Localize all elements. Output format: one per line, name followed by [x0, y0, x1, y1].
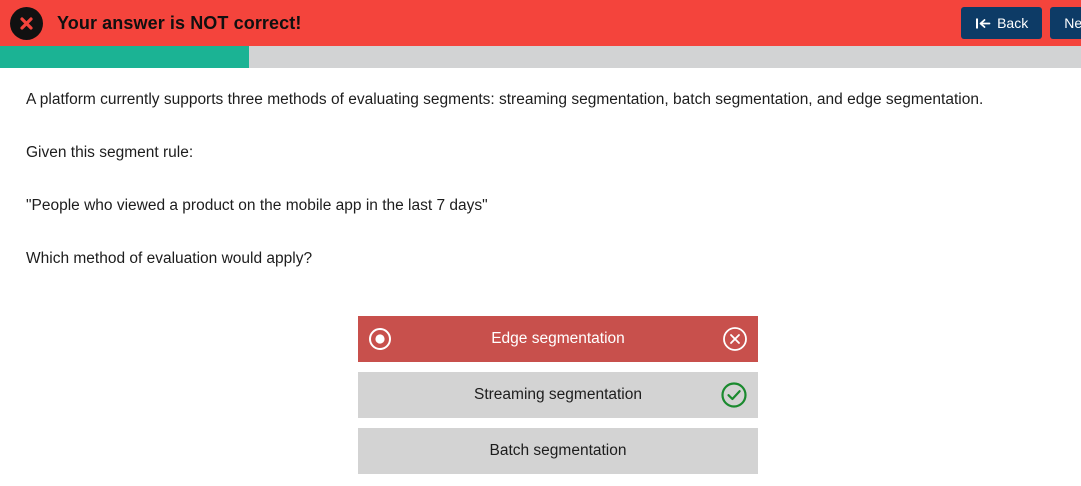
back-button[interactable]: Back [961, 7, 1042, 39]
feedback-banner: Your answer is NOT correct! Back Next [0, 0, 1081, 46]
option-edge-segmentation[interactable]: Edge segmentation [358, 316, 758, 362]
radio-selected-icon[interactable] [368, 327, 392, 351]
answer-options: Edge segmentation Streaming segmentation… [358, 316, 758, 484]
option-label: Streaming segmentation [474, 386, 642, 404]
circle-x-icon [10, 7, 43, 40]
circle-x-icon [722, 326, 748, 352]
question-line-2: Given this segment rule: [26, 143, 1057, 164]
option-batch-segmentation[interactable]: Batch segmentation [358, 428, 758, 474]
option-label: Batch segmentation [489, 442, 626, 460]
circle-check-icon [720, 381, 748, 409]
skip-back-icon [975, 17, 991, 30]
progress-bar-fill [0, 46, 249, 68]
next-button[interactable]: Next [1050, 7, 1081, 39]
question-line-3: "People who viewed a product on the mobi… [26, 196, 1057, 217]
back-button-label: Back [997, 15, 1028, 31]
progress-bar [0, 46, 1081, 68]
question-line-4: Which method of evaluation would apply? [26, 249, 1057, 270]
option-streaming-segmentation[interactable]: Streaming segmentation [358, 372, 758, 418]
next-button-label: Next [1064, 15, 1081, 31]
option-label: Edge segmentation [491, 330, 625, 348]
feedback-title: Your answer is NOT correct! [57, 13, 301, 34]
question-line-1: A platform currently supports three meth… [26, 90, 1057, 111]
navigation-buttons: Back Next [961, 7, 1081, 39]
